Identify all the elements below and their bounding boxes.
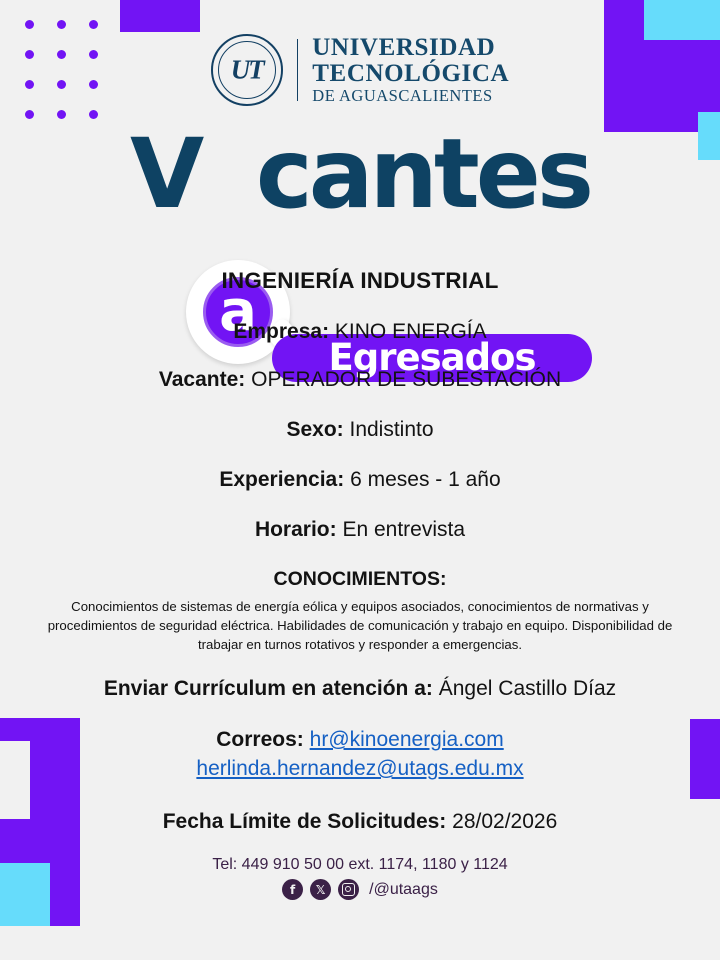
vacantes-title-prefix: V — [130, 118, 195, 230]
deadline-line: Fecha Límite de Solicitudes: 28/02/2026 — [0, 810, 720, 834]
knowledge-title: CONOCIMIENTOS: — [0, 568, 720, 591]
social-bar: f 𝕏 /@utaags — [0, 879, 720, 900]
deadline-label: Fecha Límite de Solicitudes: — [163, 810, 447, 833]
emails-label: Correos: — [216, 728, 304, 751]
vacantes-title-suffix: cantes — [256, 118, 590, 230]
field-vacante: Vacante: OPERADOR DE SUBESTACIÓN — [0, 368, 720, 392]
emails-block: Correos: hr@kinoenergia.com herlinda.her… — [0, 725, 720, 783]
field-vacante-value: OPERADOR DE SUBESTACIÓN — [251, 368, 561, 391]
field-empresa-value: KINO ENERGÍA — [335, 320, 487, 343]
university-name-line2: TECNOLÓGICA — [312, 61, 509, 87]
vacantes-wordmark: Vacantes a Egresados — [0, 122, 720, 267]
attention-label: Enviar Currículum en atención a: — [104, 677, 433, 700]
field-horario-label: Horario: — [255, 518, 337, 541]
facebook-icon[interactable]: f — [282, 879, 303, 900]
deco-top-purple-rect — [120, 0, 200, 32]
university-name-line3: DE AGUASCALIENTES — [312, 87, 509, 104]
field-vacante-label: Vacante: — [159, 368, 245, 391]
email-row-secondary: herlinda.hernandez@utags.edu.mx — [0, 754, 720, 783]
poster: UT UNIVERSIDAD TECNOLÓGICA DE AGUASCALIE… — [0, 0, 720, 960]
attention-line: Enviar Currículum en atención a: Ángel C… — [0, 677, 720, 701]
knowledge-body: Conocimientos de sistemas de energía eól… — [0, 597, 720, 654]
degree-title: INGENIERÍA INDUSTRIAL — [0, 268, 720, 294]
phone-line: Tel: 449 910 50 00 ext. 1174, 1180 y 112… — [0, 856, 720, 874]
university-logo: UT UNIVERSIDAD TECNOLÓGICA DE AGUASCALIE… — [0, 34, 720, 106]
university-name-line1: UNIVERSIDAD — [312, 35, 509, 61]
vacantes-title: Vacantes — [0, 122, 720, 227]
ut-seal-icon: UT — [211, 34, 283, 106]
field-experiencia-label: Experiencia: — [219, 468, 344, 491]
field-sexo: Sexo: Indistinto — [0, 418, 720, 442]
email-link-company[interactable]: hr@kinoenergia.com — [310, 728, 504, 751]
field-empresa: Empresa: KINO ENERGÍA — [0, 320, 720, 344]
deadline-value: 28/02/2026 — [452, 810, 557, 833]
social-handle: /@utaags — [369, 881, 438, 899]
ut-monogram: UT — [211, 55, 283, 86]
x-twitter-icon[interactable]: 𝕏 — [310, 879, 331, 900]
field-experiencia: Experiencia: 6 meses - 1 año — [0, 468, 720, 492]
field-horario-value: En entrevista — [342, 518, 465, 541]
field-experiencia-value: 6 meses - 1 año — [350, 468, 501, 491]
attention-value: Ángel Castillo Díaz — [439, 677, 616, 700]
email-row-primary: Correos: hr@kinoenergia.com — [0, 725, 720, 754]
field-empresa-label: Empresa: — [233, 320, 329, 343]
field-sexo-label: Sexo: — [286, 418, 343, 441]
field-sexo-value: Indistinto — [349, 418, 433, 441]
instagram-icon[interactable] — [338, 879, 359, 900]
email-link-university[interactable]: herlinda.hernandez@utags.edu.mx — [196, 757, 523, 780]
field-horario: Horario: En entrevista — [0, 518, 720, 542]
posting-content: INGENIERÍA INDUSTRIAL Empresa: KINO ENER… — [0, 268, 720, 900]
vacantes-title-lens-placeholder: a — [195, 118, 256, 230]
university-name: UNIVERSIDAD TECNOLÓGICA DE AGUASCALIENTE… — [312, 35, 509, 104]
logo-divider — [297, 39, 299, 101]
